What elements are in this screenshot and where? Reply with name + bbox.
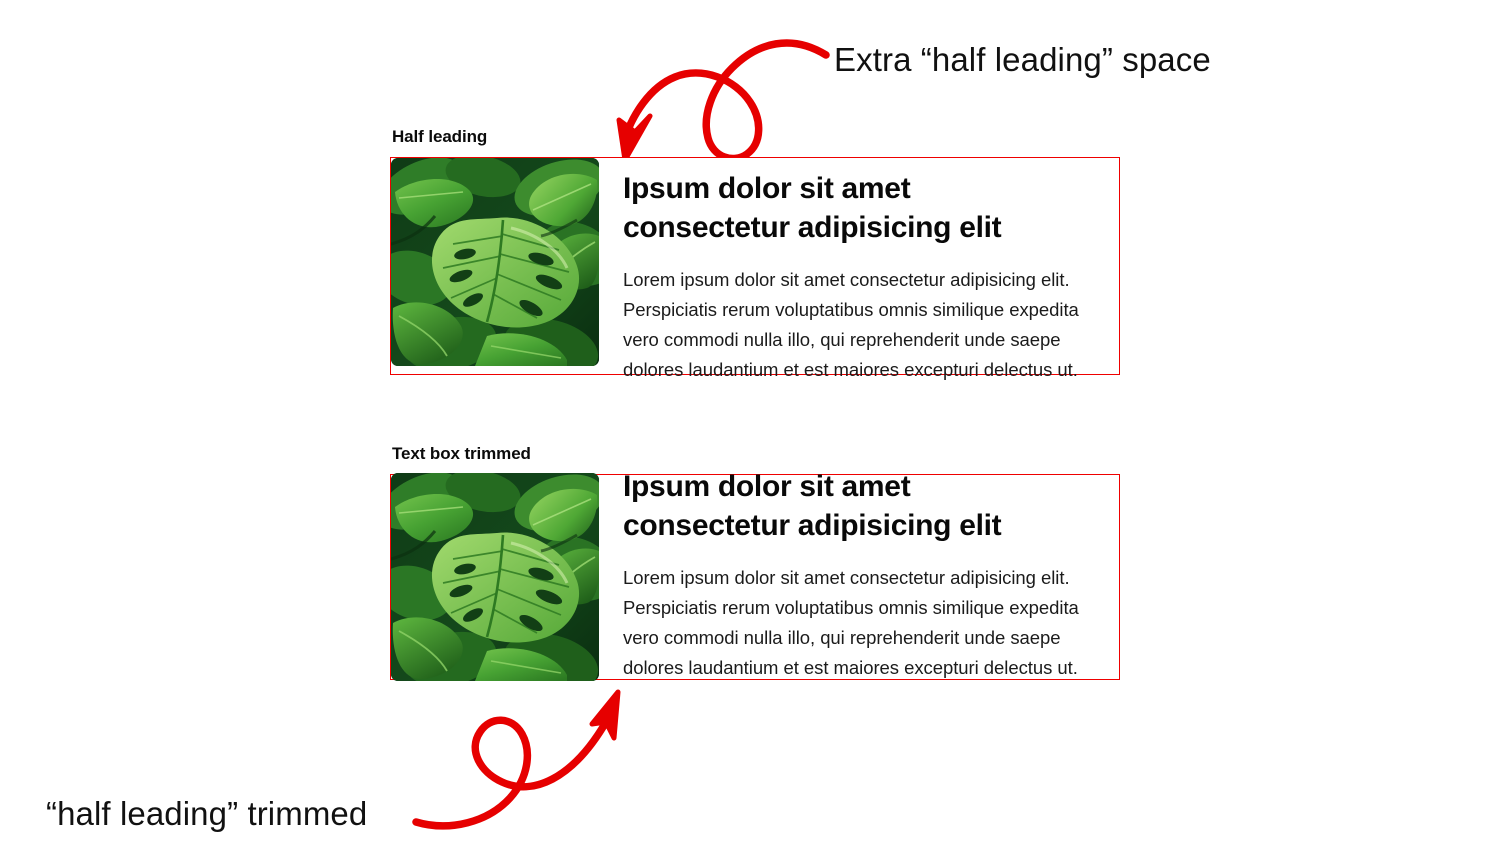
card-label-half-leading: Half leading bbox=[392, 128, 1120, 145]
card-text-box-trimmed: Ipsum dolor sit amet consectetur adipisi… bbox=[390, 474, 1120, 680]
card-heading: Ipsum dolor sit amet consectetur adipisi… bbox=[623, 169, 1053, 247]
example-text-box-trimmed: Text box trimmed bbox=[390, 445, 1120, 680]
card-body-text: Lorem ipsum dolor sit amet consectetur a… bbox=[623, 563, 1111, 683]
annotation-bottom-label: “half leading” trimmed bbox=[46, 796, 367, 832]
annotation-top-label: Extra “half leading” space bbox=[834, 42, 1211, 78]
diagram-canvas: Extra “half leading” space Half leading bbox=[0, 0, 1507, 863]
arrow-head-icon bbox=[592, 692, 618, 738]
card-heading: Ipsum dolor sit amet consectetur adipisi… bbox=[623, 467, 1053, 545]
leaf-photo-image bbox=[391, 473, 599, 681]
card-body-text: Lorem ipsum dolor sit amet consectetur a… bbox=[623, 265, 1111, 385]
curly-arrow-up-right-icon bbox=[410, 672, 650, 832]
leaf-photo-image bbox=[391, 158, 599, 366]
example-half-leading: Half leading bbox=[390, 128, 1120, 375]
card-half-leading: Ipsum dolor sit amet consectetur adipisi… bbox=[390, 157, 1120, 375]
card-label-text-box-trimmed: Text box trimmed bbox=[392, 445, 1120, 462]
card-text-block: Ipsum dolor sit amet consectetur adipisi… bbox=[599, 475, 1119, 683]
card-text-block: Ipsum dolor sit amet consectetur adipisi… bbox=[599, 158, 1119, 385]
